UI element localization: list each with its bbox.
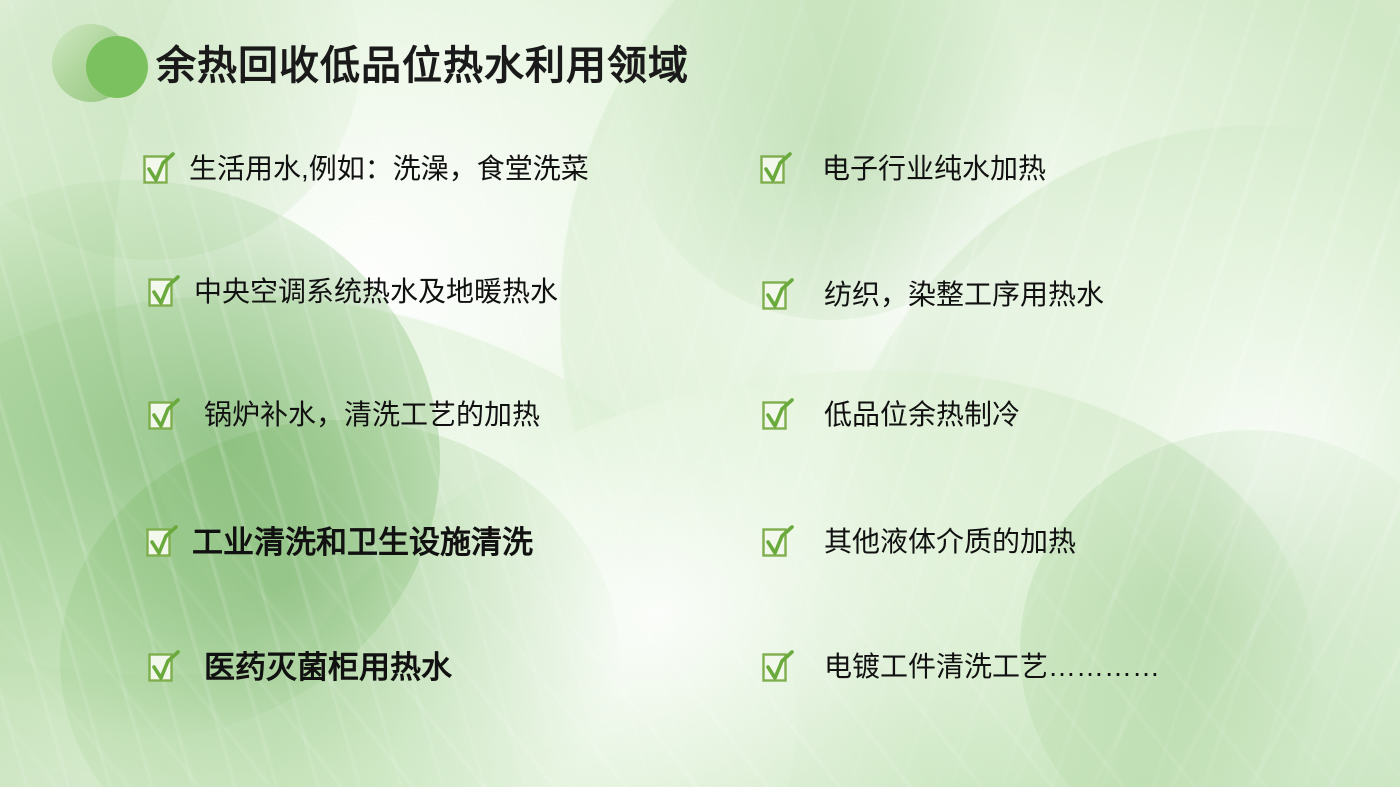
check-box-icon (762, 398, 794, 432)
slide-header: 余热回收低品位热水利用领域 (0, 22, 689, 110)
list-item-label: 锅炉补水，清洗工艺的加热 (204, 401, 540, 429)
check-box-icon (148, 650, 180, 684)
list-item[interactable]: 中央空调系统热水及地暖热水 (148, 275, 558, 309)
check-box-icon (762, 650, 794, 684)
logo-front-circle-icon (86, 36, 148, 98)
check-box-icon (143, 152, 175, 186)
list-item[interactable]: 锅炉补水，清洗工艺的加热 (148, 398, 540, 432)
list-item-label: 医药灭菌柜用热水 (204, 652, 452, 683)
check-box-icon (762, 525, 794, 559)
check-box-icon (146, 525, 178, 559)
check-box-icon (760, 152, 792, 186)
check-box-icon (762, 278, 794, 312)
list-item-label: 中央空调系统热水及地暖热水 (194, 278, 558, 306)
list-item[interactable]: 其他液体介质的加热 (762, 525, 1076, 559)
list-item-label: 电子行业纯水加热 (822, 155, 1046, 183)
presentation-slide: 余热回收低品位热水利用领域 生活用水,例如：洗澡，食堂洗菜 (0, 0, 1400, 787)
list-item-label: 其他液体介质的加热 (824, 528, 1076, 556)
bullet-grid: 生活用水,例如：洗澡，食堂洗菜 中央空调系统热水及地暖热水 (0, 140, 1400, 740)
slide-content: 余热回收低品位热水利用领域 生活用水,例如：洗澡，食堂洗菜 (0, 0, 1400, 787)
list-item-label: 低品位余热制冷 (824, 401, 1020, 429)
list-item-label: 生活用水,例如：洗澡，食堂洗菜 (189, 155, 589, 183)
list-item-label: 工业清洗和卫生设施清洗 (192, 527, 533, 558)
list-item[interactable]: 低品位余热制冷 (762, 398, 1020, 432)
page-title: 余热回收低品位热水利用领域 (156, 46, 689, 86)
list-item-label: 纺织，染整工序用热水 (824, 281, 1104, 309)
logo-circles-icon (48, 22, 146, 110)
list-item-label: 电镀工件清洗工艺………… (824, 653, 1160, 681)
list-item[interactable]: 电镀工件清洗工艺………… (762, 650, 1160, 684)
list-item[interactable]: 医药灭菌柜用热水 (148, 650, 452, 684)
check-box-icon (148, 275, 180, 309)
list-item[interactable]: 纺织，染整工序用热水 (762, 278, 1104, 312)
list-item[interactable]: 生活用水,例如：洗澡，食堂洗菜 (143, 152, 589, 186)
list-item[interactable]: 工业清洗和卫生设施清洗 (146, 525, 533, 559)
check-box-icon (148, 398, 180, 432)
list-item[interactable]: 电子行业纯水加热 (760, 152, 1046, 186)
